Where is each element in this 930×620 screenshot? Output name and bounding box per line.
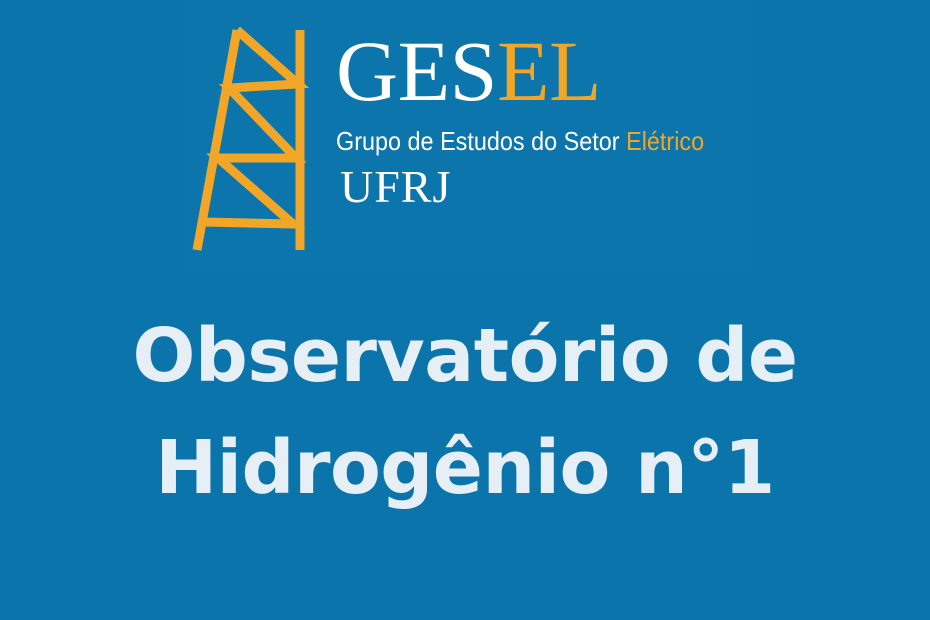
gesel-wordmark-text: GESEL <box>336 20 748 122</box>
gesel-wordmark-white-part: GES <box>336 28 497 114</box>
page-title-line-1: Observatório de <box>0 300 930 412</box>
page-title: Observatório de Hidrogênio n°1 <box>0 300 930 524</box>
transmission-tower-icon <box>190 26 310 254</box>
gesel-wordmark-orange-part: EL <box>497 28 601 114</box>
slide-root: GESEL Grupo de Estudos do Setor Elétrico… <box>0 0 930 620</box>
gesel-tagline: Grupo de Estudos do Setor Elétrico <box>336 128 707 154</box>
ufrj-label: UFRJ <box>340 164 748 210</box>
gesel-tagline-white-part: Grupo de Estudos do Setor <box>336 126 620 156</box>
page-title-line-2: Hidrogênio n°1 <box>0 412 930 524</box>
gesel-wordmark: GESEL Grupo de Estudos do Setor Elétrico… <box>336 20 748 260</box>
gesel-logo-block: GESEL Grupo de Estudos do Setor Elétrico… <box>181 0 750 270</box>
gesel-tagline-orange-part: Elétrico <box>626 126 704 156</box>
transmission-tower-svg <box>190 26 310 254</box>
